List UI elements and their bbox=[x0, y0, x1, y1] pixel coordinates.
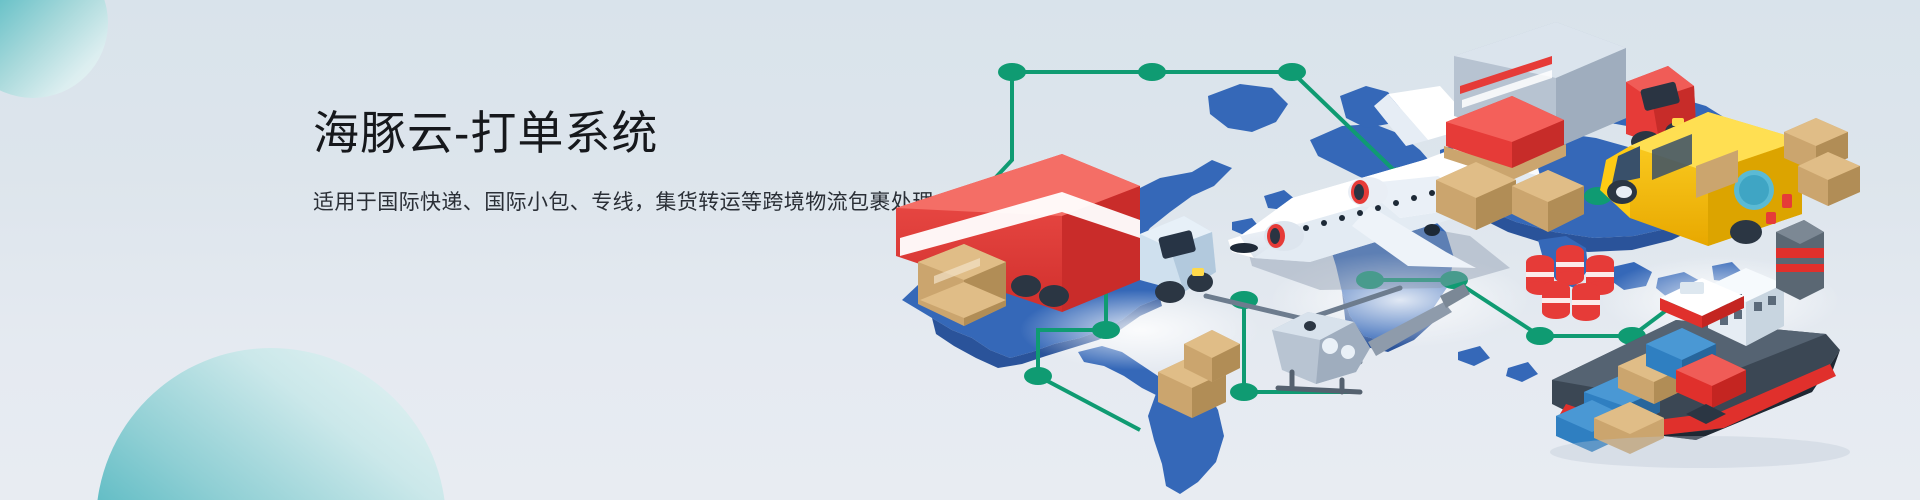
illustration-global-logistics bbox=[840, 0, 1920, 500]
hero-banner: 海豚云-打单系统 适用于国际快递、国际小包、专线，集货转运等跨境物流包裹处理 bbox=[0, 0, 1920, 500]
barrels-icon bbox=[1526, 245, 1614, 321]
bottom-left-decorative-circle bbox=[96, 348, 446, 500]
top-left-decorative-circle bbox=[0, 0, 108, 98]
